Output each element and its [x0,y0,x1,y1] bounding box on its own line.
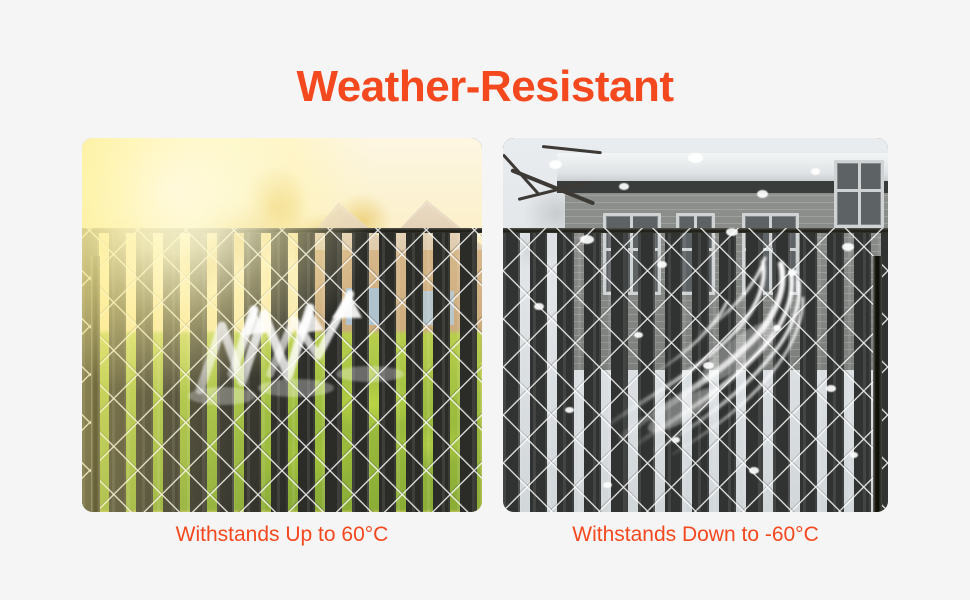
fence-assembly [503,228,888,512]
photo-snowy-house-fence [503,138,888,512]
caption-cold-weather: Withstands Down to -60°C [503,523,888,547]
photo-sunny-backyard-fence [82,138,482,512]
page-title: Weather-Resistant [0,62,970,112]
fence-post-right [873,256,882,512]
warm-sunlight-wash [82,138,482,512]
panel-hot-weather [82,138,482,512]
marketing-banner: Weather-Resistant [0,0,970,600]
caption-hot-weather: Withstands Up to 60°C [82,523,482,547]
chain-link-mesh [503,228,888,512]
house-window-upper [834,160,884,227]
panel-cold-weather [503,138,888,512]
